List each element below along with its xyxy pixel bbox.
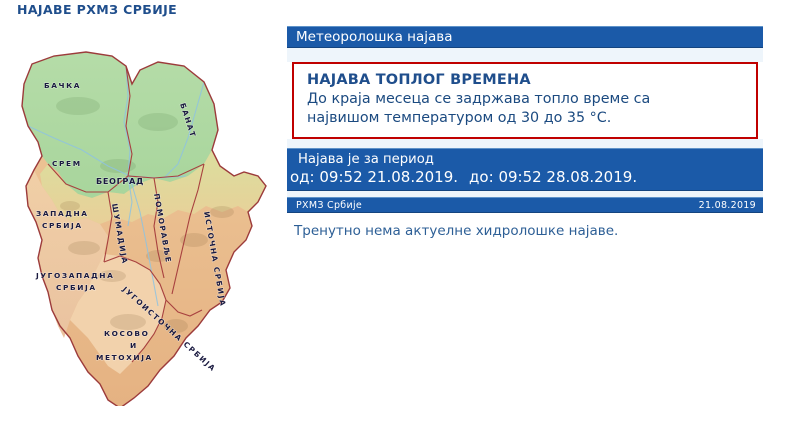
hydro-source-label: РХМЗ Србије [296,198,362,213]
spacer-strip-1 [287,48,763,62]
hydro-message: Тренутно нема актуелне хидролошке најаве… [287,213,763,240]
map-label-zapadna-srbija-1: ЗАПАДНА [36,209,89,218]
map-svg: БАЧКА БАНАТ СРЕМ БЕОГРАД ЗАПАДНА СРБИЈА … [8,26,280,406]
map-of-serbia-regions[interactable]: БАЧКА БАНАТ СРЕМ БЕОГРАД ЗАПАДНА СРБИЈА … [8,26,280,406]
map-label-backa: БАЧКА [44,81,81,90]
period-to-label: до: [469,168,494,186]
map-label-beograd: БЕОГРАД [96,176,144,186]
period-to-value: 09:52 28.08.2019. [498,168,637,186]
period-label: Најава је за период [287,151,763,168]
spacer-strip-2 [287,139,763,148]
period-range: од: 09:52 21.08.2019.до: 09:52 28.08.201… [287,168,763,187]
map-label-metohija: МЕТОХИЈА [96,353,153,362]
validity-period-bar: Најава је за период од: 09:52 21.08.2019… [287,148,763,191]
map-label-jugozapadna-2: СРБИЈА [56,283,97,292]
hydro-source-bar: РХМЗ Србије 21.08.2019 [287,197,763,213]
warning-line-1: До краја месеца се задржава топло време … [307,90,746,109]
map-label-kosovo-i: И [130,341,138,350]
map-label-zapadna-srbija-2: СРБИЈА [42,221,83,230]
hydro-date: 21.08.2019 [699,198,756,213]
map-label-srem: СРЕМ [52,159,82,168]
period-from-value: 09:52 21.08.2019. [319,168,458,186]
map-label-kosovo: КОСОВО [104,329,150,338]
period-from-label: од: [290,168,315,186]
map-label-jugozapadna-1: ЈУГОЗАПАДНА [35,271,114,280]
advisory-panel: Метеоролошка најава НАЈАВА ТОПЛОГ ВРЕМЕН… [287,26,763,240]
page-title: НАЈАВЕ РХМЗ СРБИЈЕ [17,2,177,17]
meteo-section-header: Метеоролошка најава [287,26,763,48]
warning-title: НАЈАВА ТОПЛОГ ВРЕМЕНА [307,72,746,88]
heat-warning-box: НАЈАВА ТОПЛОГ ВРЕМЕНА До краја месеца се… [292,62,758,139]
warning-line-2: највишом температуром од 30 до 35 °C. [307,109,746,128]
